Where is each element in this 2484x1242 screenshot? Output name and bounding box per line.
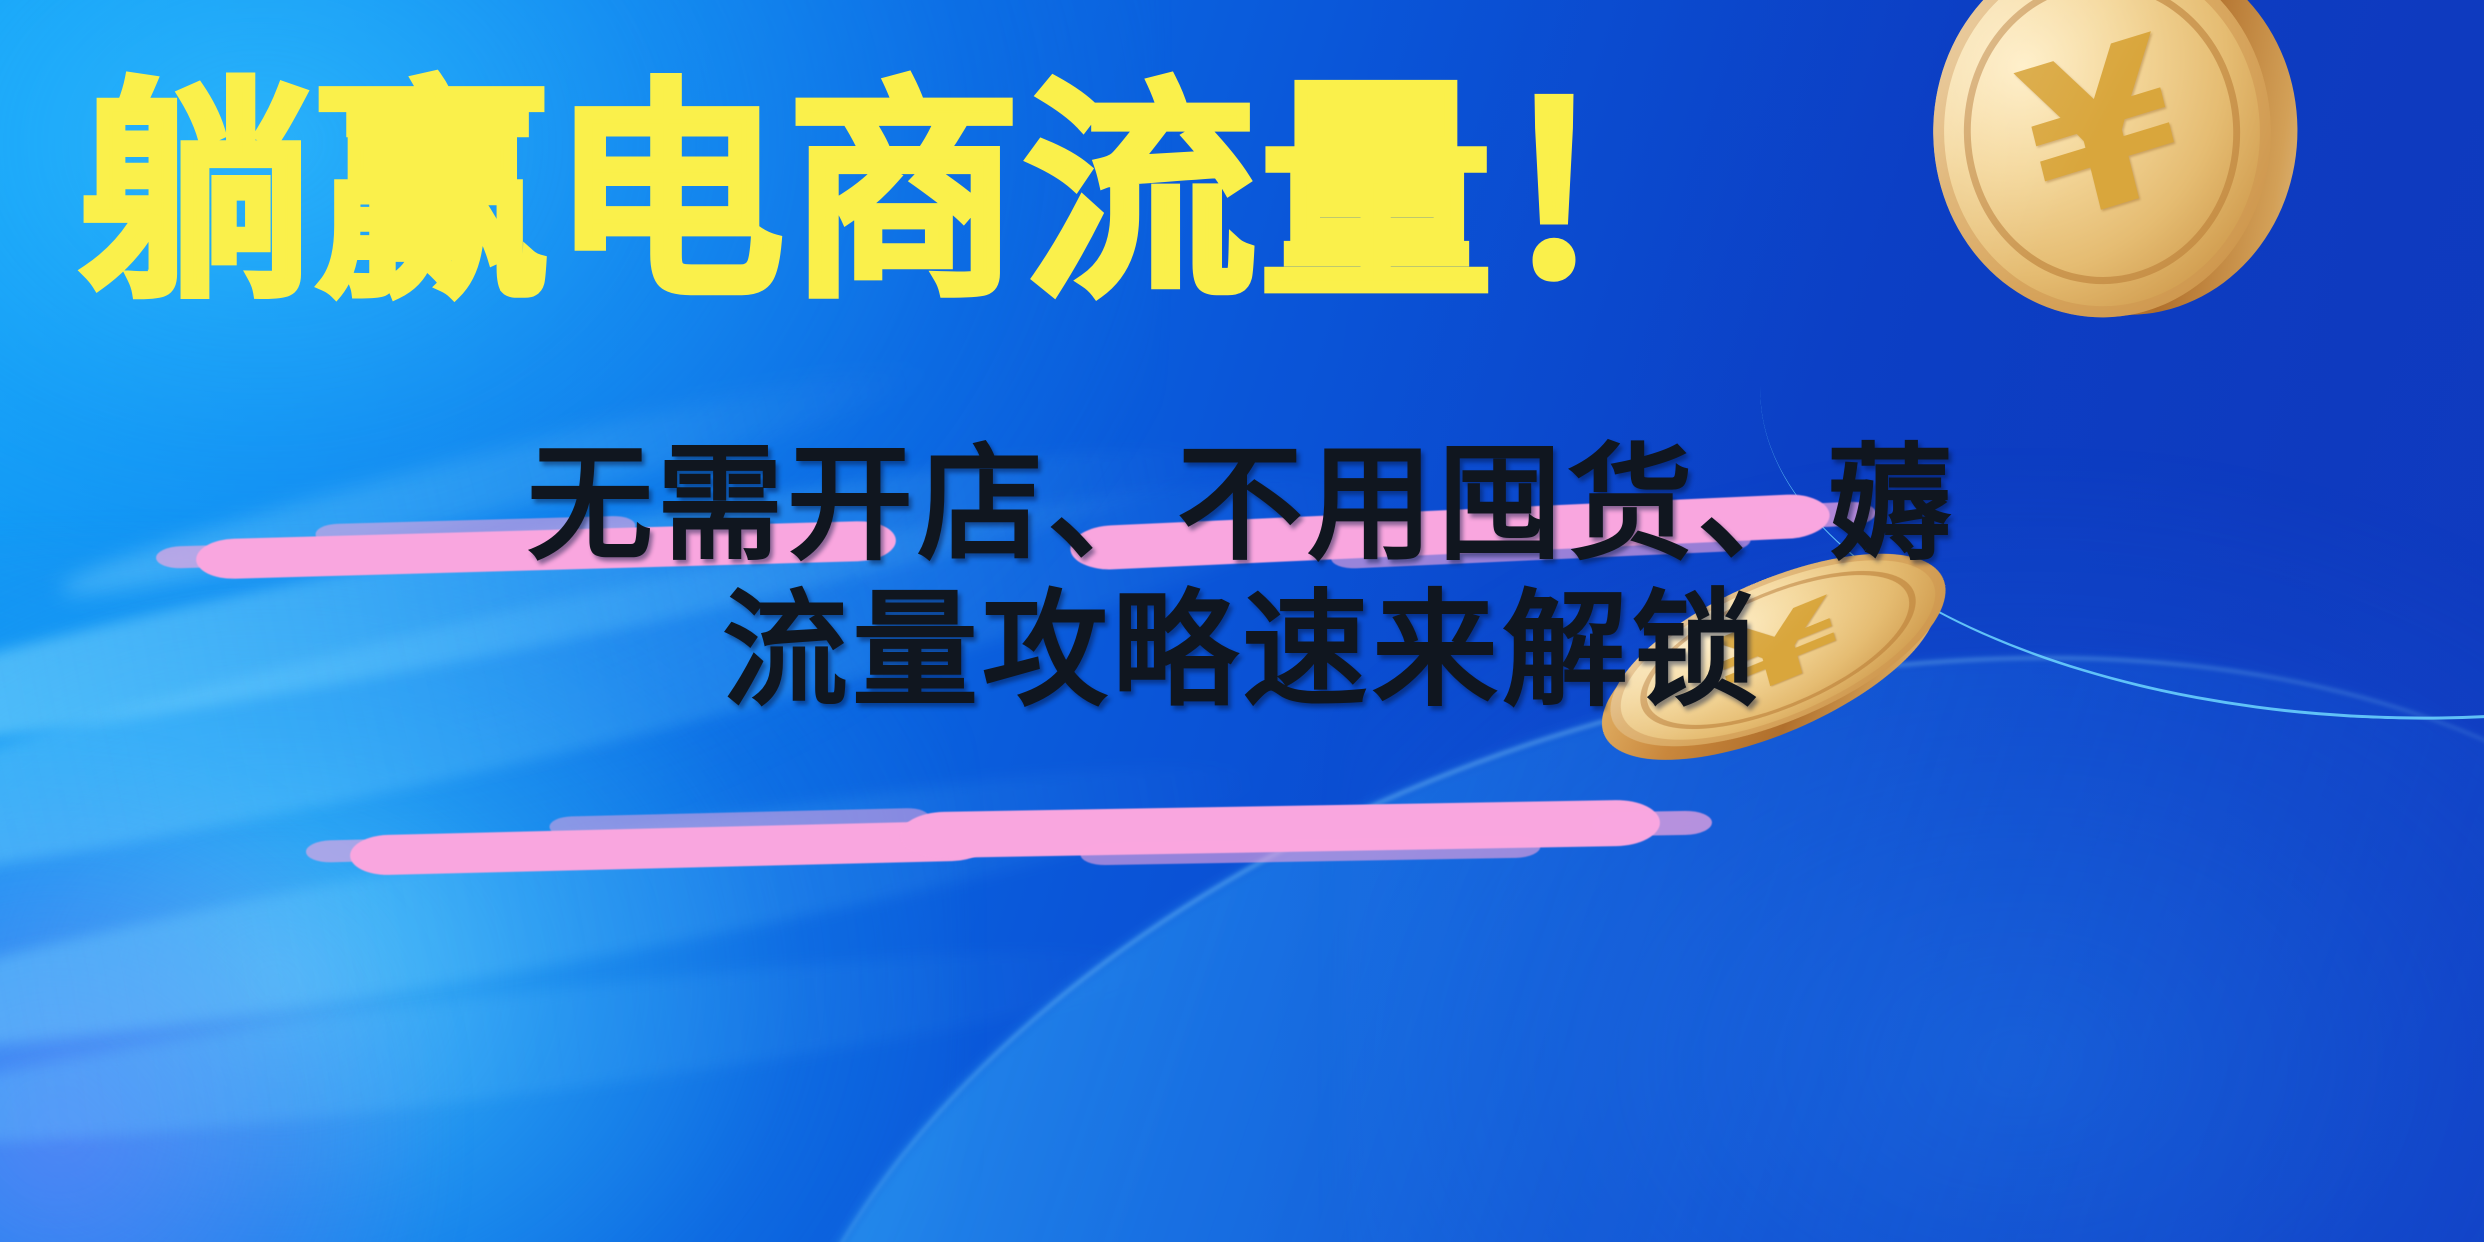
subtitle-line-2: 流量攻略速来解锁: [0, 578, 2484, 724]
banner-headline: 躺赢电商流量！: [80, 78, 2420, 310]
promo-banner: ¥ 躺赢电商流量！ ¥ 无需开店、不用囤货、薅 流量攻略速来解锁: [0, 0, 2484, 1242]
subtitle-line-1-text: 无需开店、不用囤货、薅: [527, 431, 1957, 578]
subtitle-line-1: 无需开店、不用囤货、薅: [0, 432, 2484, 578]
banner-subtitle: 无需开店、不用囤货、薅 流量攻略速来解锁: [0, 432, 2484, 724]
subtitle-line-2-text: 流量攻略速来解锁: [722, 577, 1762, 724]
